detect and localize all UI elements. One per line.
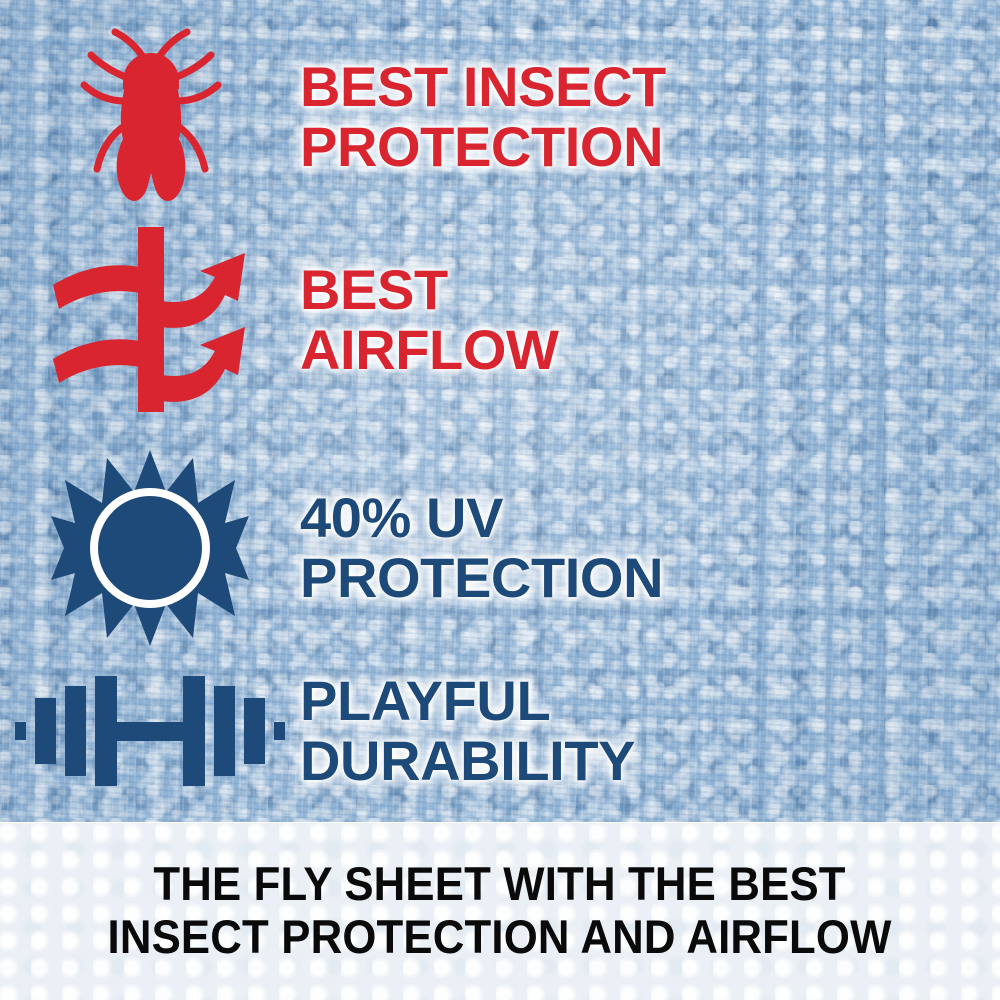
icon-cell-insect — [0, 27, 300, 207]
feature-row-durability: PLAYFUL DURABILITY — [0, 648, 1000, 813]
label-cell-insect: BEST INSECT PROTECTION — [300, 57, 1000, 177]
sun-icon — [50, 448, 250, 648]
feature-label-uv-line1: 40% UV — [300, 488, 1000, 548]
feature-label-insect-line2: PROTECTION — [300, 117, 1000, 177]
feature-label-airflow-line1: BEST — [300, 260, 1000, 320]
dumbbell-icon — [15, 664, 285, 794]
caption-headline: THE FLY SHEET WITH THE BEST INSECT PROTE… — [108, 858, 892, 963]
label-cell-airflow: BEST AIRFLOW — [300, 260, 1000, 380]
feature-row-airflow: BEST AIRFLOW — [0, 222, 1000, 417]
feature-row-insect-protection: BEST INSECT PROTECTION — [0, 22, 1000, 212]
feature-label-durability-line2: DURABILITY — [300, 731, 1000, 791]
airflow-arrows-icon — [45, 227, 255, 412]
caption-band: THE FLY SHEET WITH THE BEST INSECT PROTE… — [0, 822, 1000, 1000]
feature-label-airflow-line2: AIRFLOW — [300, 320, 1000, 380]
feature-row-uv-protection: 40% UV PROTECTION — [0, 440, 1000, 655]
feature-label-insect-line1: BEST INSECT — [300, 57, 1000, 117]
label-cell-uv: 40% UV PROTECTION — [300, 488, 1000, 608]
feature-label-uv-line2: PROTECTION — [300, 548, 1000, 608]
fly-icon — [75, 27, 225, 207]
icon-cell-uv — [0, 448, 300, 648]
icon-cell-airflow — [0, 227, 300, 412]
icon-cell-durability — [0, 664, 300, 798]
label-cell-durability: PLAYFUL DURABILITY — [300, 671, 1000, 791]
product-feature-infographic: BEST INSECT PROTECTION BEST AIRFLOW — [0, 0, 1000, 1000]
feature-label-durability-line1: PLAYFUL — [300, 671, 1000, 731]
